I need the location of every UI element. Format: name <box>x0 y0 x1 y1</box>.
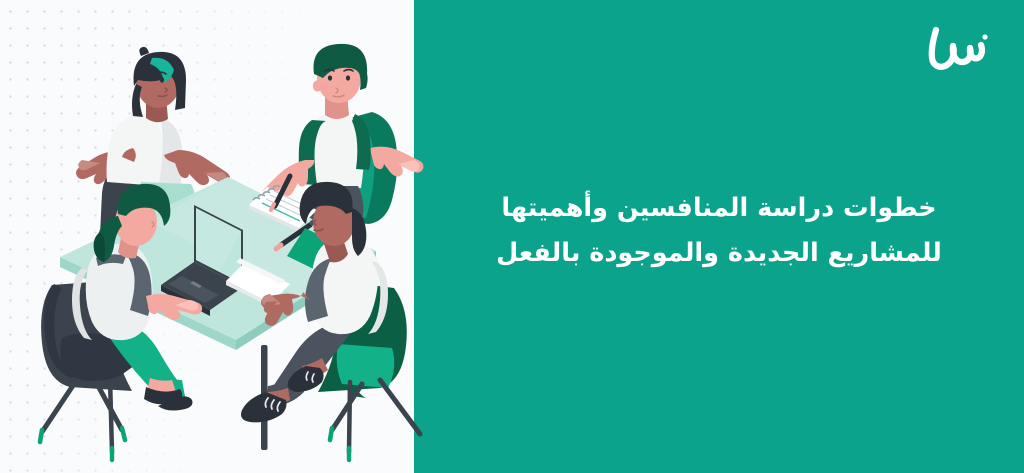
banner: خطوات دراسة المنافسين وأهميتها للمشاريع … <box>0 0 1024 473</box>
headline-line-1: خطوات دراسة المنافسين وأهميتها <box>440 186 998 231</box>
chair-leg <box>380 380 420 434</box>
logo-dot <box>982 34 987 39</box>
team-meeting-illustration <box>0 0 460 473</box>
chair-leg <box>349 382 350 452</box>
brand-logo[interactable] <box>922 22 996 74</box>
chair-leg <box>332 384 362 430</box>
chair-leg <box>110 378 112 452</box>
headline: خطوات دراسة المنافسين وأهميتها للمشاريع … <box>414 186 1024 276</box>
headline-line-2: للمشاريع الجديدة والموجودة بالفعل <box>440 231 998 276</box>
chair-leg <box>42 378 78 432</box>
